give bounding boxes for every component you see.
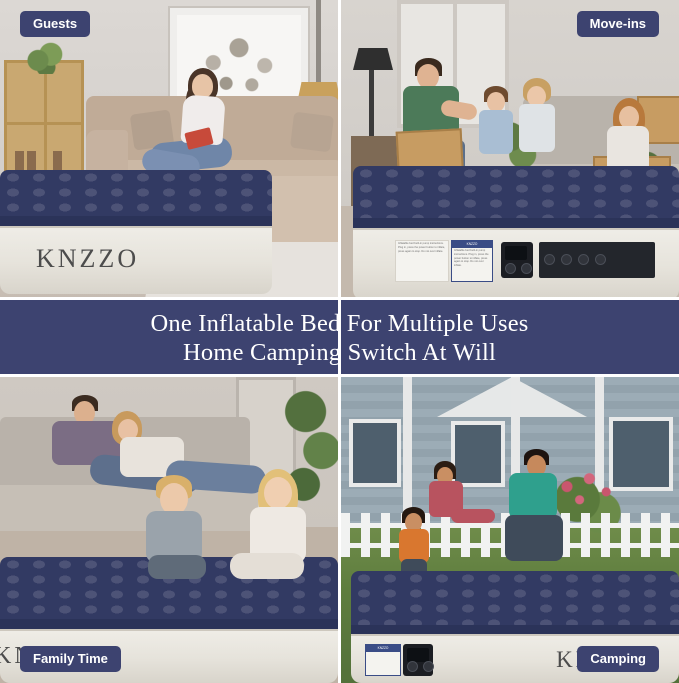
bed-label-body: Inflatable bed built-in pump instruction… — [452, 248, 492, 269]
woman-legs — [451, 509, 495, 523]
child-head — [487, 92, 505, 112]
child-torso — [479, 110, 513, 154]
pump-power-button[interactable] — [544, 254, 555, 265]
sofa-pillow — [290, 112, 334, 153]
house-window — [349, 419, 401, 487]
bed-label-title: KNZZO — [366, 645, 400, 652]
house-window — [451, 421, 505, 487]
pump-inflate-button[interactable] — [521, 263, 532, 274]
bed-top-edge — [0, 216, 272, 226]
bed-brand-label: KNZZO — [365, 644, 401, 676]
brand-logo-guests: KNZZO — [36, 244, 139, 274]
boy-legs — [148, 555, 206, 579]
panel-guests: KNZZO Guests — [0, 0, 338, 300]
man-legs — [505, 515, 563, 561]
man-torso — [509, 473, 557, 519]
boy-torso — [399, 529, 429, 563]
bed-tufting-pattern — [351, 571, 679, 625]
pump-button-row[interactable] — [505, 263, 532, 274]
label-family-time: Family Time — [20, 646, 121, 672]
pump-display-screen — [505, 246, 527, 260]
potted-plant — [26, 40, 66, 74]
woman-head — [192, 74, 213, 98]
bed-pump-control-panel[interactable] — [403, 644, 433, 676]
floor-lamp-shade — [353, 48, 393, 70]
bed-top-edge — [353, 218, 679, 228]
pump-stop-button[interactable] — [595, 254, 606, 265]
panel-move-ins: Inflatable bed built-in pump instruction… — [341, 0, 679, 300]
label-guests: Guests — [20, 11, 90, 37]
pump-power-button[interactable] — [407, 661, 418, 672]
pump-deflate-button[interactable] — [578, 254, 589, 265]
bed-base: Inflatable bed built-in pump instruction… — [353, 228, 679, 300]
porch-post — [403, 377, 412, 527]
pump-power-button[interactable] — [505, 263, 516, 274]
bed-mattress-top — [351, 571, 679, 625]
bed-top-edge — [351, 625, 679, 634]
panel-divider-bottom — [0, 374, 679, 377]
pump-inflate-button[interactable] — [561, 254, 572, 265]
pump-inflate-button[interactable] — [423, 661, 434, 672]
child-torso — [519, 104, 555, 152]
panel-camping: KNZZO KNZZO Camping — [341, 377, 679, 683]
wooden-shelf-unit — [4, 60, 84, 184]
bed-top-edge — [0, 619, 338, 629]
bed-mattress-top — [0, 170, 272, 216]
panel-divider-vertical — [338, 0, 341, 683]
girl-head — [264, 477, 292, 509]
inflatable-bed-move-ins: Inflatable bed built-in pump instruction… — [353, 166, 679, 300]
pump-button-row[interactable] — [539, 242, 655, 270]
label-move-ins: Move-ins — [577, 11, 659, 37]
bed-pump-control-panel[interactable] — [501, 242, 533, 278]
bed-instruction-label: Inflatable bed built-in pump instruction… — [395, 240, 449, 282]
bed-base-seam — [0, 629, 338, 631]
bed-tufting-pattern — [0, 170, 272, 216]
bed-button-strip[interactable] — [539, 242, 655, 278]
girl-legs — [230, 553, 304, 579]
bed-base-seam — [351, 634, 679, 636]
bed-tufting-pattern — [353, 166, 679, 218]
label-camping: Camping — [577, 646, 659, 672]
bed-label-body: Inflatable bed built-in pump instruction… — [396, 241, 448, 255]
pink-flowers — [553, 469, 623, 513]
bed-label-title: KNZZO — [452, 241, 492, 248]
bed-mattress-top — [353, 166, 679, 218]
product-collage: KNZZO Guests — [0, 0, 679, 683]
floor-lamp-arm — [316, 0, 321, 86]
pump-button-row[interactable] — [407, 661, 434, 672]
bed-brand-label: KNZZO Inflatable bed built-in pump instr… — [451, 240, 493, 282]
bed-base-seam — [0, 226, 272, 228]
panel-family-time: KNZZO Family Time — [0, 377, 338, 683]
pump-display-screen — [407, 648, 429, 662]
bed-base-seam — [353, 228, 679, 230]
panel-divider-top — [0, 297, 679, 300]
inflatable-bed-guests: KNZZO — [0, 170, 272, 294]
sofa-seat — [0, 485, 258, 531]
